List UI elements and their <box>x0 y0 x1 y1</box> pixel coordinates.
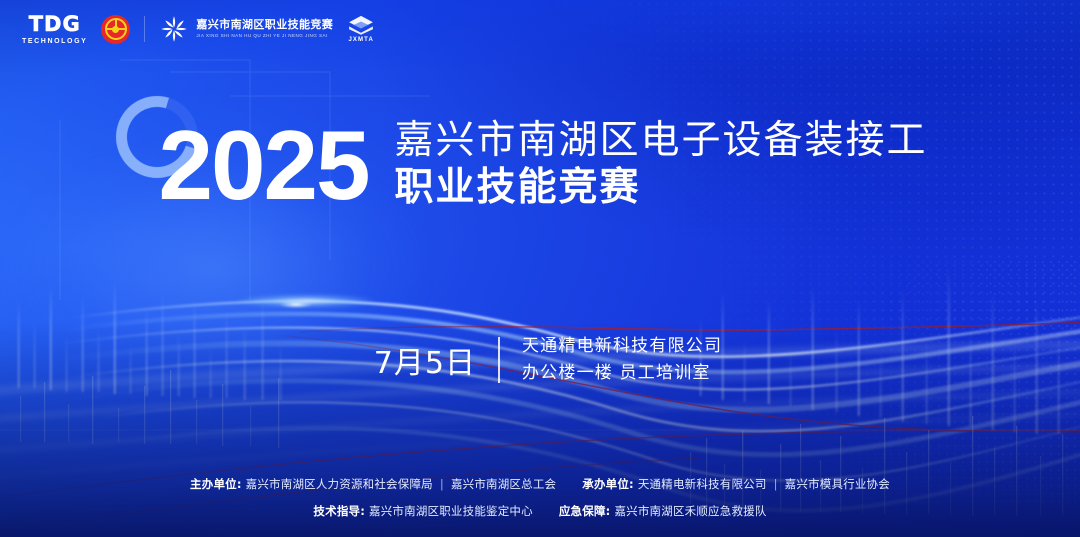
burst-icon <box>159 14 189 44</box>
competition-name-pinyin: JIA XING SHI NAN HU QU ZHI YE JI NENG JI… <box>196 34 333 39</box>
footer: 主办单位: 嘉兴市南湖区人力资源和社会保障局 | 嘉兴市南湖区总工会 承办单位:… <box>0 476 1080 519</box>
title-line-2: 职业技能竞赛 <box>395 164 928 212</box>
footer-row-support: 技术指导: 嘉兴市南湖区职业技能鉴定中心 应急保障: 嘉兴市南湖区禾顺应急救援队 <box>0 503 1080 519</box>
event-date: 7月5日 <box>374 338 476 382</box>
jxmta-logo: JXMTA <box>347 15 375 43</box>
hero-section: 2025 嘉兴市南湖区电子设备装接工 职业技能竞赛 <box>0 118 1080 212</box>
emergency-support-value: 嘉兴市南湖区禾顺应急救援队 <box>614 503 766 519</box>
technical-guidance-value: 嘉兴市南湖区职业技能鉴定中心 <box>369 503 533 519</box>
footer-item-emergency-support: 应急保障: 嘉兴市南湖区禾顺应急救援队 <box>559 503 767 519</box>
title-block: 嘉兴市南湖区电子设备装接工 职业技能竞赛 <box>395 118 928 212</box>
footer-item-organizer: 承办单位: 天通精电新科技有限公司 | 嘉兴市模具行业协会 <box>582 476 890 492</box>
host-value-1: 嘉兴市南湖区人力资源和社会保障局 <box>246 476 433 492</box>
competition-name-cn: 嘉兴市南湖区职业技能竞赛 <box>196 20 333 32</box>
year-block: 2025 <box>158 122 368 208</box>
year-text: 2025 <box>158 122 368 208</box>
background-decoration <box>0 0 1080 537</box>
meta-divider <box>498 337 500 383</box>
jxmta-abbr: JXMTA <box>349 37 374 43</box>
title-line-1: 嘉兴市南湖区电子设备装接工 <box>395 118 928 164</box>
organizer-separator: | <box>774 477 778 491</box>
vignette <box>0 0 1080 537</box>
logo-divider <box>144 16 145 42</box>
venue-line-2: 办公楼一楼 员工培训室 <box>522 362 722 384</box>
organizer-value-2: 嘉兴市模具行业协会 <box>785 476 890 492</box>
light-trail-graphics <box>0 0 1080 537</box>
lens-flare <box>221 293 391 309</box>
event-poster: TDG TECHNOLOGY <box>0 0 1080 537</box>
organizer-label: 承办单位: <box>582 476 634 492</box>
venue-line-1: 天通精电新科技有限公司 <box>522 335 722 357</box>
lens-flare-core <box>279 301 313 308</box>
emergency-support-label: 应急保障: <box>559 503 611 519</box>
logo-bar: TDG TECHNOLOGY <box>0 0 1080 58</box>
host-label: 主办单位: <box>190 476 242 492</box>
organizer-value-1: 天通精电新科技有限公司 <box>638 476 767 492</box>
tdg-logo: TDG TECHNOLOGY <box>22 14 87 45</box>
tdg-wordmark: TDG <box>29 14 81 35</box>
footer-item-technical-guidance: 技术指导: 嘉兴市南湖区职业技能鉴定中心 <box>313 503 532 519</box>
host-value-2: 嘉兴市南湖区总工会 <box>451 476 556 492</box>
tdg-tagline: TECHNOLOGY <box>22 38 87 45</box>
jxmta-emblem-icon <box>347 15 375 35</box>
footer-item-host: 主办单位: 嘉兴市南湖区人力资源和社会保障局 | 嘉兴市南湖区总工会 <box>190 476 556 492</box>
footer-row-organizers: 主办单位: 嘉兴市南湖区人力资源和社会保障局 | 嘉兴市南湖区总工会 承办单位:… <box>0 476 1080 492</box>
event-venue: 天通精电新科技有限公司 办公楼一楼 员工培训室 <box>522 335 722 384</box>
technical-guidance-label: 技术指导: <box>313 503 365 519</box>
jiaxing-nanhu-skills-competition-logo: 嘉兴市南湖区职业技能竞赛 JIA XING SHI NAN HU QU ZHI … <box>159 14 333 44</box>
acftu-emblem <box>101 15 130 44</box>
host-separator: | <box>440 477 444 491</box>
event-meta: 7月5日 天通精电新科技有限公司 办公楼一楼 员工培训室 <box>0 335 1080 384</box>
